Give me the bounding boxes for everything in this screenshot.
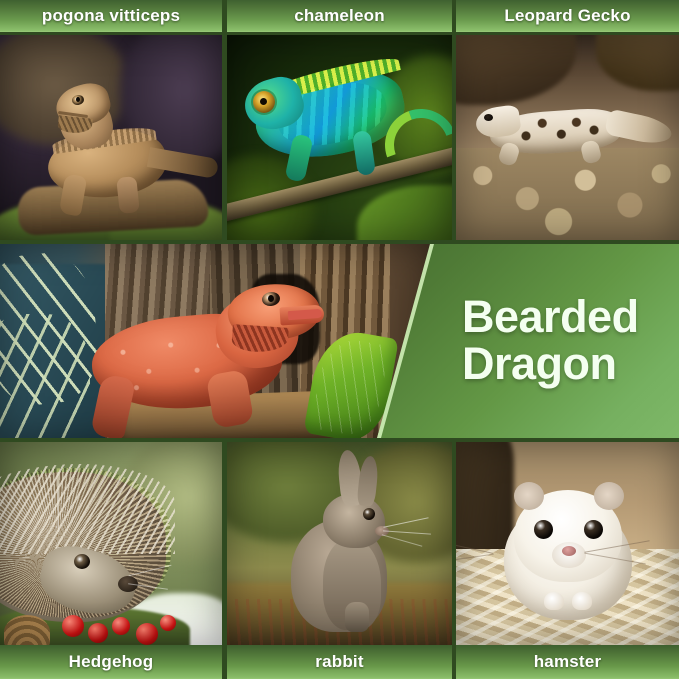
label-pogona-vitticeps: pogona vitticeps xyxy=(0,0,222,32)
photo-rabbit xyxy=(227,442,452,645)
label-text: Hedgehog xyxy=(69,652,154,672)
photo-pogona-vitticeps xyxy=(0,35,222,240)
label-hedgehog: Hedgehog xyxy=(0,645,222,679)
label-chameleon: chameleon xyxy=(227,0,452,32)
photo-chameleon xyxy=(227,35,452,240)
label-text: chameleon xyxy=(294,6,385,26)
label-rabbit: rabbit xyxy=(227,645,452,679)
label-text: Leopard Gecko xyxy=(504,6,630,26)
label-leopard-gecko: Leopard Gecko xyxy=(456,0,679,32)
label-text: rabbit xyxy=(315,652,363,672)
title-line-1: Bearded xyxy=(462,294,639,341)
label-text: pogona vitticeps xyxy=(42,6,180,26)
pet-species-collage: pogona vitticeps xyxy=(0,0,679,679)
photo-leopard-gecko xyxy=(456,35,679,240)
label-text: hamster xyxy=(534,652,602,672)
title-line-2: Dragon xyxy=(462,341,639,388)
photo-hedgehog xyxy=(0,442,222,645)
label-hamster: hamster xyxy=(456,645,679,679)
photo-red-bearded-dragon xyxy=(0,244,440,438)
photo-hamster xyxy=(456,442,679,645)
page-title: Bearded Dragon xyxy=(462,294,639,388)
